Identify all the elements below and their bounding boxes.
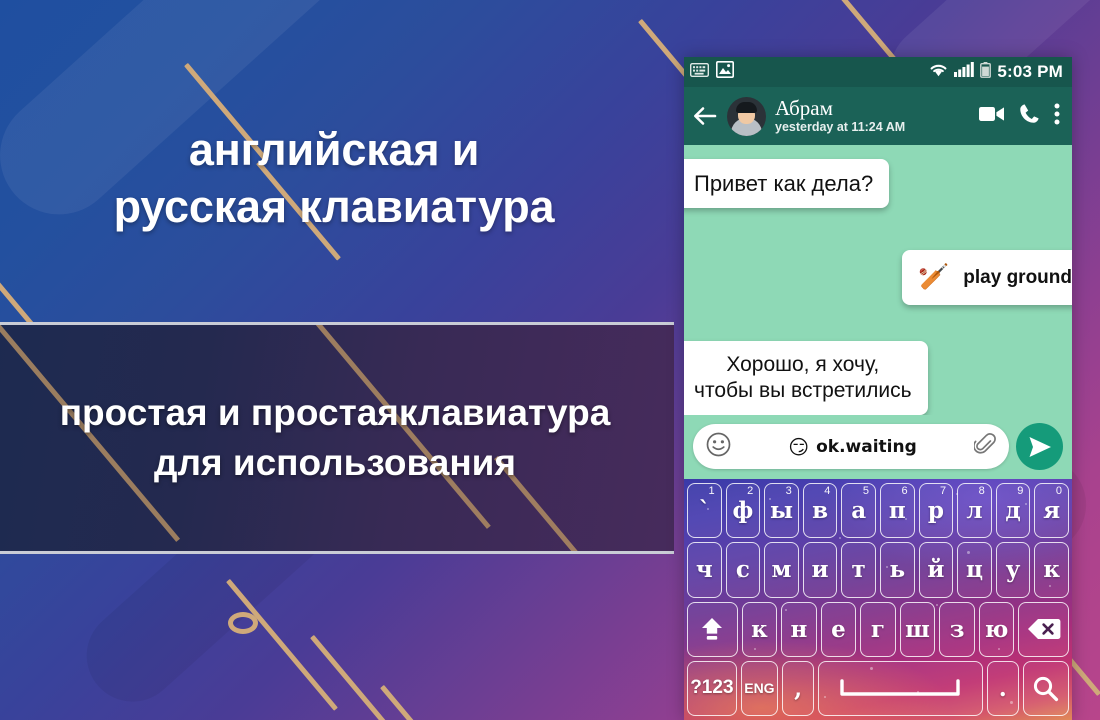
message-row: Привет как дела? — [684, 159, 1072, 208]
promo-banner-line2: для использования — [60, 438, 611, 488]
key-label: р — [928, 497, 944, 524]
message-row: 🏏 play ground — [684, 250, 1072, 305]
search-key[interactable] — [1023, 661, 1069, 716]
message-bubble-incoming[interactable]: Привет как дела? — [684, 159, 889, 208]
key-yery[interactable]: 3ы — [764, 483, 799, 538]
promo-banner: простая и простаяклавиатура для использо… — [0, 322, 674, 554]
message-input-value: ok.waiting — [816, 437, 917, 457]
key-ghe[interactable]: г — [860, 602, 896, 657]
key-label: я — [1043, 497, 1060, 524]
key-grave[interactable]: 1` — [687, 483, 722, 538]
key-de[interactable]: 9д — [996, 483, 1031, 538]
key-label: й — [927, 556, 944, 583]
key-label: . — [999, 675, 1007, 702]
key-number: 5 — [863, 485, 869, 497]
message-input-bar: 😏 ok.waiting — [684, 415, 1072, 480]
avatar[interactable] — [727, 97, 766, 136]
key-label: е — [831, 616, 846, 643]
video-call-icon[interactable] — [979, 105, 1005, 128]
key-label: т — [852, 556, 866, 583]
chat-body: Привет как дела? 🏏 play ground Хорошо, я… — [684, 145, 1072, 479]
chat-header: Абрам yesterday at 11:24 AM — [684, 87, 1072, 145]
key-tse[interactable]: ц — [957, 542, 992, 597]
key-label: и — [812, 556, 829, 583]
search-icon — [1032, 675, 1059, 702]
key-ye[interactable]: е — [821, 602, 857, 657]
key-number: 2 — [747, 485, 753, 497]
key-soft-sign[interactable]: ь — [880, 542, 915, 597]
key-ef[interactable]: 2ф — [726, 483, 761, 538]
key-label: ы — [770, 497, 793, 524]
key-short-i[interactable]: й — [919, 542, 954, 597]
promo-headline-line1: английская и — [0, 122, 668, 179]
backspace-icon — [1027, 617, 1061, 641]
key-label: д — [1005, 497, 1020, 524]
key-label: к — [1043, 556, 1060, 583]
message-bubble-outgoing[interactable]: 🏏 play ground — [902, 250, 1072, 305]
key-number: 1 — [708, 485, 714, 497]
key-label: ?123 — [690, 677, 733, 699]
key-che[interactable]: ч — [687, 542, 722, 597]
language-key[interactable]: ENG — [741, 661, 778, 716]
voice-call-icon[interactable] — [1019, 103, 1040, 129]
shift-icon — [697, 615, 727, 643]
spacebar-icon — [840, 679, 960, 697]
key-number: 9 — [1017, 485, 1023, 497]
symbols-key[interactable]: ?123 — [687, 661, 737, 716]
space-key[interactable] — [818, 661, 983, 716]
key-number: 8 — [979, 485, 985, 497]
virtual-keyboard: 1` 2ф 3ы 4в 5а 6п 7р 8л 9д 0я ч с м и т … — [684, 479, 1072, 720]
key-label: а — [851, 497, 866, 524]
key-ve[interactable]: 4в — [803, 483, 838, 538]
key-label: н — [791, 616, 808, 643]
message-bubble-incoming[interactable]: Хорошо, я хочу, чтобы вы встретились — [684, 341, 928, 415]
phone-mockup: 5:03 PM Абрам yesterday at 11:24 AM — [684, 57, 1072, 720]
key-label: ENG — [744, 680, 774, 696]
status-bar: 5:03 PM — [684, 57, 1072, 87]
paperclip-icon[interactable] — [974, 433, 996, 460]
shift-key[interactable] — [687, 602, 738, 657]
key-label: к — [751, 616, 768, 643]
contact-info[interactable]: Абрам yesterday at 11:24 AM — [775, 97, 905, 136]
key-label: г — [871, 616, 885, 643]
keyboard-row-4: ?123 ENG , . — [687, 661, 1069, 716]
key-ze[interactable]: з — [939, 602, 975, 657]
message-text: Хорошо, я хочу, чтобы вы встретились — [694, 352, 912, 404]
key-en[interactable]: н — [781, 602, 817, 657]
contact-name: Абрам — [775, 97, 905, 119]
backspace-key[interactable] — [1018, 602, 1069, 657]
keyboard-icon — [690, 63, 709, 82]
message-input-field[interactable]: 😏 ok.waiting — [693, 424, 1009, 469]
wifi-icon — [929, 62, 948, 82]
key-number: 6 — [901, 485, 907, 497]
key-pe[interactable]: 6п — [880, 483, 915, 538]
key-label: у — [1006, 556, 1021, 583]
image-icon — [716, 61, 734, 83]
signal-icon — [954, 62, 974, 82]
key-number: 4 — [824, 485, 830, 497]
keyboard-row-3: к н е г ш з ю — [687, 602, 1069, 657]
key-el[interactable]: 8л — [957, 483, 992, 538]
message-input-value-wrap: 😏 ok.waiting — [731, 435, 974, 459]
key-number: 3 — [786, 485, 792, 497]
key-ka[interactable]: к — [1034, 542, 1069, 597]
key-label: п — [889, 497, 906, 524]
key-i[interactable]: и — [803, 542, 838, 597]
promo-banner-line1: простая и простаяклавиатура — [60, 388, 611, 438]
message-row: Хорошо, я хочу, чтобы вы встретились — [684, 341, 1072, 415]
battery-icon — [980, 62, 991, 83]
key-u[interactable]: у — [996, 542, 1031, 597]
emoji-smiley-icon[interactable] — [706, 432, 731, 462]
comma-key[interactable]: , — [782, 661, 814, 716]
key-a[interactable]: 5а — [841, 483, 876, 538]
key-label: ь — [889, 556, 905, 583]
key-yu[interactable]: ю — [979, 602, 1015, 657]
key-label: , — [794, 675, 802, 702]
promo-banner-text: простая и простаяклавиатура для использо… — [46, 388, 625, 487]
key-ka-2[interactable]: к — [742, 602, 778, 657]
key-label: л — [966, 497, 982, 524]
contact-last-seen: yesterday at 11:24 AM — [775, 120, 905, 136]
promo-headline: английская и русская клавиатура — [0, 122, 668, 235]
gold-accent-ring — [228, 612, 258, 634]
key-ya[interactable]: 0я — [1034, 483, 1069, 538]
key-sha[interactable]: ш — [900, 602, 936, 657]
period-key[interactable]: . — [987, 661, 1019, 716]
message-text: play ground — [963, 266, 1072, 290]
key-label: ю — [985, 616, 1009, 643]
keyboard-row-1: 1` 2ф 3ы 4в 5а 6п 7р 8л 9д 0я — [687, 483, 1069, 538]
key-em[interactable]: м — [764, 542, 799, 597]
key-es[interactable]: с — [726, 542, 761, 597]
key-label: в — [812, 497, 828, 524]
key-label: ч — [696, 556, 713, 583]
key-te[interactable]: т — [841, 542, 876, 597]
send-button[interactable] — [1016, 423, 1063, 470]
status-time: 5:03 PM — [997, 62, 1063, 82]
key-label: ш — [905, 616, 930, 643]
key-label: ` — [699, 497, 711, 524]
smirk-emoji-icon: 😏 — [788, 435, 809, 459]
key-number: 0 — [1056, 485, 1062, 497]
key-label: з — [950, 616, 965, 643]
gold-accent-line — [380, 685, 467, 720]
promo-headline-line2: русская клавиатура — [0, 179, 668, 236]
cricket-bat-icon: 🏏 — [918, 262, 949, 293]
key-er[interactable]: 7р — [919, 483, 954, 538]
back-arrow-icon[interactable] — [692, 103, 718, 129]
key-number: 7 — [940, 485, 946, 497]
key-label: с — [736, 556, 750, 583]
key-label: ф — [733, 497, 754, 524]
key-label: м — [771, 556, 791, 583]
overflow-menu-icon[interactable] — [1054, 103, 1060, 130]
keyboard-row-2: ч с м и т ь й ц у к — [687, 542, 1069, 597]
message-text: Привет как дела? — [694, 171, 873, 196]
key-label: ц — [966, 556, 983, 583]
